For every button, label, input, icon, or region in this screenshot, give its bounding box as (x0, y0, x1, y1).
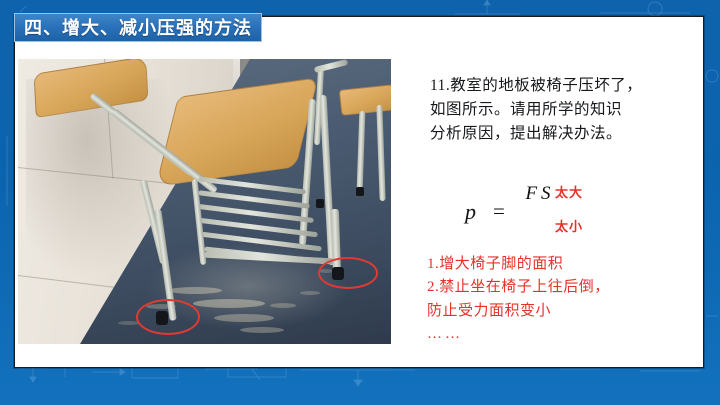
question-line-3: 分析原因，提出解决办法。 (430, 122, 692, 146)
answer-line-2: 2.禁止坐在椅子上往后倒， (427, 276, 697, 299)
formula-denominator-s: S (541, 183, 551, 204)
question-text: 11.教室的地板被椅子压坏了， 如图所示。请用所学的知识 分析原因，提出解决办法… (430, 74, 692, 146)
formula-note-too-large: 太大 (555, 182, 583, 201)
formula-fraction: F S (525, 182, 551, 206)
floor-debris (214, 314, 274, 322)
floor-debris (270, 303, 296, 308)
formula-equals-sign: = (493, 199, 505, 224)
formula-note-too-small: 太小 (555, 216, 583, 235)
floor-debris (168, 287, 222, 294)
pressure-formula: p = F S 太大 太小 (455, 180, 655, 242)
slide-title-banner: 四、增大、减小压强的方法 (14, 13, 262, 42)
background-watermark-left (0, 16, 14, 366)
floor-debris (300, 291, 320, 295)
annotation-ellipse-front-foot (136, 299, 200, 335)
background-watermark-right (704, 16, 720, 366)
answer-line-1: 1.增大椅子脚的面积 (427, 253, 697, 276)
floor-debris (193, 299, 265, 308)
classroom-chair-photo (18, 59, 391, 344)
answer-text: 1.增大椅子脚的面积 2.禁止坐在椅子上往后倒， 防止受力面积变小 …… (427, 253, 697, 346)
photo-neighbor-chair-seat (339, 84, 391, 116)
slide-root: 四、增大、减小压强的方法 (0, 0, 720, 405)
formula-numerator-f: F (525, 183, 537, 204)
photo-neighbor-chair-foot (356, 187, 364, 196)
annotation-ellipse-right-foot (318, 257, 378, 289)
floor-debris (240, 327, 284, 333)
question-line-1: 11.教室的地板被椅子压坏了， (430, 74, 692, 98)
background-watermark-bottom (0, 364, 720, 405)
answer-line-ellipsis: …… (427, 323, 697, 346)
question-line-2: 如图所示。请用所学的知识 (430, 98, 692, 122)
photo-neighbor-chair-foot (316, 199, 324, 208)
page-title: 四、增大、减小压强的方法 (24, 19, 252, 37)
answer-line-3: 防止受力面积变小 (427, 300, 697, 323)
formula-variable-p: p (465, 199, 476, 225)
